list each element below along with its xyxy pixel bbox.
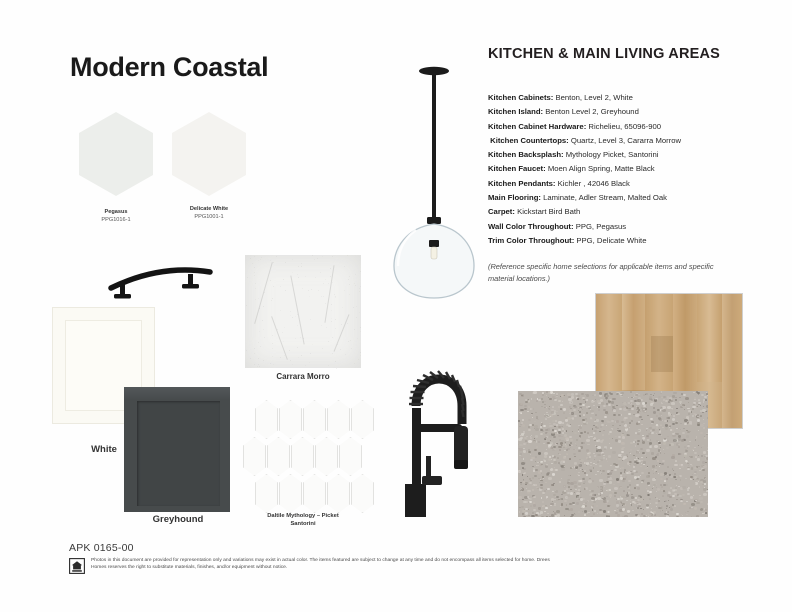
carpet-fleck: [691, 411, 693, 412]
carpet-fleck: [558, 435, 561, 437]
carpet-fleck: [546, 440, 547, 441]
spec-label: Kitchen Cabinets:: [488, 93, 553, 102]
carpet-fleck: [541, 473, 543, 474]
carpet-fleck: [649, 427, 652, 429]
carpet-fleck: [578, 483, 581, 486]
carpet-fleck: [643, 405, 646, 407]
quartz-speck: [323, 283, 324, 284]
quartz-speck: [325, 279, 326, 280]
quartz-speck: [272, 298, 273, 299]
carpet-fleck: [601, 499, 603, 500]
carpet-fleck: [642, 452, 644, 454]
carpet-fleck: [592, 480, 594, 482]
carpet-fleck: [703, 406, 704, 407]
carpet-fleck: [629, 452, 630, 453]
carpet-fleck: [603, 510, 607, 513]
carpet-fleck: [678, 444, 680, 445]
carpet-fleck: [643, 515, 646, 517]
carpet-fleck: [668, 500, 669, 501]
carpet-fleck: [586, 399, 588, 401]
carpet-fleck: [699, 470, 700, 471]
spec-value: Richelieu, 65096-900: [588, 122, 661, 131]
carpet-fleck: [532, 512, 534, 513]
carpet-fleck: [520, 453, 522, 455]
carpet-fleck: [622, 508, 625, 511]
carpet-fleck: [637, 440, 640, 443]
carpet-fleck: [576, 492, 579, 495]
quartz-speck: [328, 341, 329, 342]
quartz-speck: [349, 276, 350, 277]
carpet-fleck: [681, 393, 683, 395]
carpet-fleck: [566, 453, 568, 455]
quartz-speck: [273, 262, 274, 263]
carpet-fleck: [598, 439, 601, 441]
carpet-fleck: [706, 457, 708, 460]
carpet-fleck: [673, 415, 675, 417]
carpet-fleck: [682, 432, 684, 434]
quartz-speck: [259, 366, 260, 367]
carpet-fleck: [705, 512, 707, 514]
carpet-fleck: [700, 424, 703, 427]
carpet-fleck: [551, 492, 552, 493]
quartz-speck: [298, 357, 299, 358]
quartz-speck: [261, 257, 262, 258]
carpet-fleck: [707, 395, 708, 396]
carpet-fleck: [656, 424, 658, 425]
carpet-fleck: [533, 509, 536, 511]
carpet-fleck: [636, 402, 640, 405]
quartz-speck: [314, 259, 315, 260]
carpet-fleck: [584, 431, 586, 433]
carpet-fleck: [660, 425, 662, 426]
carpet-fleck: [569, 412, 571, 414]
carpet-fleck: [574, 492, 575, 493]
carpet-fleck: [703, 493, 706, 496]
carpet-fleck: [704, 437, 706, 439]
carpet-fleck: [619, 408, 622, 410]
carpet-fleck: [578, 450, 581, 453]
quartz-speck: [331, 318, 332, 319]
carpet-fleck: [554, 430, 557, 432]
carpet-fleck: [686, 514, 688, 516]
spec-label: Wall Color Throughout:: [488, 222, 574, 231]
quartz-speck: [345, 354, 346, 355]
carpet-fleck: [618, 414, 621, 416]
carpet-fleck: [666, 447, 668, 449]
carpet-fleck: [631, 507, 633, 509]
quartz-speck: [250, 358, 251, 359]
carpet-fleck: [610, 447, 612, 449]
carpet-fleck: [573, 453, 575, 455]
quartz-speck: [360, 331, 361, 332]
carpet-fleck: [684, 405, 685, 406]
carpet-fleck: [576, 445, 577, 446]
carpet-fleck: [690, 431, 691, 432]
carpet-fleck: [664, 472, 667, 475]
carpet-fleck: [678, 476, 681, 478]
carpet-fleck: [650, 394, 652, 396]
carpet-fleck: [668, 401, 670, 403]
carpet-fleck: [519, 426, 521, 427]
carpet-fleck: [607, 514, 610, 517]
carpet-fleck: [582, 478, 585, 481]
carpet-fleck: [563, 412, 565, 414]
carpet-fleck: [651, 432, 654, 434]
carpet-fleck: [640, 448, 643, 450]
carpet-fleck: [703, 465, 706, 468]
carpet-fleck: [553, 423, 555, 425]
carpet-fleck: [683, 394, 686, 396]
carpet-fleck: [590, 417, 592, 419]
carpet-fleck: [550, 505, 552, 506]
carpet-fleck: [645, 408, 647, 410]
carpet-fleck: [638, 414, 640, 416]
carpet-fleck: [523, 501, 527, 504]
carpet-fleck: [586, 394, 589, 396]
carpet-fleck: [703, 427, 705, 429]
carpet-fleck: [543, 461, 544, 462]
carpet-fleck: [652, 488, 653, 489]
quartz-speck: [335, 319, 336, 320]
carpet-fleck: [619, 425, 621, 427]
carpet-fleck: [570, 408, 571, 409]
carpet-fleck: [597, 461, 600, 463]
carpet-fleck: [548, 477, 552, 480]
carpet-fleck: [566, 488, 568, 489]
carpet-fleck: [630, 400, 633, 402]
carpet-fleck: [658, 473, 659, 474]
quartz-speck: [305, 276, 306, 277]
carpet-fleck: [661, 486, 664, 488]
carpet-fleck: [524, 408, 527, 410]
carpet-fleck: [592, 428, 593, 429]
carpet-fleck: [624, 417, 628, 420]
quartz-speck: [298, 266, 299, 267]
carpet-fleck: [528, 451, 531, 453]
carpet-fleck: [518, 438, 521, 441]
quartz-speck: [360, 271, 361, 272]
carpet-fleck: [589, 494, 590, 495]
carpet-fleck: [527, 476, 528, 477]
carpet-fleck: [657, 488, 660, 490]
carpet-fleck: [664, 420, 667, 422]
quartz-speck: [254, 256, 255, 257]
carpet-fleck: [660, 452, 661, 453]
carpet-fleck: [591, 490, 594, 492]
carpet-fleck: [606, 496, 608, 497]
carpet-fleck: [533, 441, 535, 443]
carpet-fleck: [542, 394, 544, 396]
carpet-fleck: [617, 481, 620, 483]
carpet-fleck: [538, 452, 542, 455]
carpet-fleck: [522, 424, 525, 427]
quartz-speck: [347, 255, 348, 256]
carpet-fleck: [609, 431, 612, 433]
carpet-fleck: [652, 465, 656, 468]
carpet-fleck: [680, 406, 682, 408]
carpet-fleck: [672, 423, 675, 426]
carpet-fleck: [572, 418, 574, 420]
carpet-fleck: [660, 510, 662, 511]
carpet-fleck: [612, 429, 613, 430]
backsplash-tile-caption: Daltile Mythology – Picket Santorini: [248, 513, 358, 528]
quartz-speck: [254, 275, 255, 276]
carpet-fleck: [676, 485, 677, 486]
carpet-fleck: [603, 419, 605, 420]
carpet-fleck: [687, 511, 689, 512]
carpet-fleck: [546, 395, 548, 396]
carpet-fleck: [675, 397, 676, 398]
carpet-fleck: [702, 445, 704, 446]
carpet-fleck: [587, 444, 589, 446]
carpet-fleck: [617, 514, 621, 517]
carpet-fleck: [666, 417, 669, 419]
carpet-fleck: [531, 398, 533, 399]
paint-code: PPG1001-1: [154, 214, 264, 222]
carpet-fleck: [672, 395, 675, 398]
carpet-fleck: [579, 438, 582, 440]
quartz-speck: [259, 308, 260, 309]
quartz-speck: [270, 260, 271, 261]
carpet-fleck: [591, 400, 594, 403]
carpet-fleck: [646, 504, 649, 507]
spec-row: Kitchen Backsplash: Mythology Picket, Sa…: [488, 148, 753, 162]
quartz-speck: [272, 335, 273, 336]
carpet-fleck: [683, 503, 686, 505]
carpet-fleck: [583, 481, 586, 483]
carpet-fleck: [555, 420, 558, 422]
carpet-fleck: [595, 414, 597, 416]
quartz-speck: [309, 296, 310, 297]
carpet-fleck: [518, 496, 522, 499]
carpet-fleck: [656, 465, 657, 466]
carpet-fleck: [593, 432, 595, 433]
carpet-fleck: [692, 474, 693, 475]
carpet-fleck: [543, 494, 544, 495]
carpet-fleck: [560, 410, 561, 411]
carpet-fleck: [637, 399, 640, 402]
carpet-fleck: [531, 435, 532, 436]
carpet-fleck: [557, 415, 559, 416]
carpet-fleck: [594, 459, 595, 460]
quartz-speck: [270, 280, 271, 281]
carpet-fleck: [563, 456, 567, 459]
quartz-speck: [298, 277, 299, 278]
carpet-fleck: [570, 489, 571, 490]
carpet-fleck: [707, 489, 708, 490]
carpet-fleck: [647, 415, 649, 417]
quartz-speck: [283, 279, 284, 280]
carpet-fleck: [558, 446, 561, 449]
carpet-fleck: [635, 445, 636, 446]
carpet-fleck: [536, 400, 538, 402]
carpet-fleck: [588, 436, 590, 438]
quartz-speck: [254, 348, 255, 349]
carpet-fleck: [565, 496, 568, 499]
carpet-fleck: [651, 452, 654, 454]
carpet-fleck: [705, 478, 706, 479]
spec-label: Kitchen Pendants:: [488, 179, 556, 188]
carpet-fleck: [628, 409, 631, 411]
quartz-speck: [271, 300, 272, 301]
carpet-fleck: [525, 440, 527, 442]
quartz-speck: [283, 341, 284, 342]
carpet-fleck: [622, 505, 623, 506]
quartz-speck: [331, 304, 332, 305]
carpet-fleck: [590, 410, 593, 413]
carpet-fleck: [628, 480, 631, 482]
quartz-speck: [332, 337, 333, 338]
carpet-fleck: [612, 451, 616, 454]
quartz-speck: [349, 294, 350, 295]
spec-row: Kitchen Cabinets: Benton, Level 2, White: [488, 91, 753, 105]
carpet-fleck: [522, 474, 524, 475]
carpet-fleck: [523, 481, 525, 483]
carpet-fleck: [628, 413, 631, 415]
carpet-fleck: [552, 455, 554, 457]
quartz-speck: [353, 307, 354, 308]
carpet-fleck: [595, 399, 596, 400]
carpet-fleck: [567, 481, 569, 482]
carpet-fleck: [540, 484, 543, 486]
carpet-fleck: [590, 462, 592, 464]
carpet-fleck: [707, 426, 708, 427]
carpet-fleck: [554, 467, 556, 468]
quartz-speck: [360, 286, 361, 287]
quartz-speck: [347, 323, 348, 324]
carpet-fleck: [646, 435, 649, 437]
carpet-fleck: [603, 405, 606, 407]
carpet-fleck: [560, 404, 562, 406]
carpet-fleck: [673, 490, 675, 491]
carpet-fleck: [600, 470, 601, 471]
carpet-fleck: [577, 496, 580, 498]
carpet-fleck: [661, 403, 663, 404]
quartz-speck: [360, 327, 361, 328]
carpet-fleck: [616, 405, 618, 406]
carpet-fleck: [541, 497, 542, 498]
carpet-fleck: [633, 466, 635, 467]
carpet-fleck: [568, 483, 570, 485]
quartz-speck: [264, 337, 265, 338]
carpet-fleck: [562, 401, 563, 402]
carpet-fleck: [561, 468, 565, 471]
carpet-fleck: [528, 419, 530, 421]
carpet-fleck: [574, 415, 577, 417]
carpet-fleck: [595, 474, 597, 476]
carpet-fleck: [585, 401, 587, 403]
carpet-fleck: [524, 472, 526, 474]
carpet-fleck: [687, 431, 690, 433]
carpet-fleck: [674, 464, 677, 466]
carpet-fleck: [703, 401, 704, 402]
carpet-fleck: [601, 492, 603, 494]
quartz-speck: [310, 353, 311, 354]
spec-value: Mythology Picket, Santorini: [566, 150, 659, 159]
carpet-fleck: [559, 449, 561, 450]
carpet-fleck: [673, 392, 677, 395]
carpet-fleck: [621, 392, 623, 394]
carpet-fleck: [591, 497, 595, 500]
carpet-fleck: [529, 498, 532, 500]
carpet-fleck: [705, 509, 707, 510]
carpet-fleck: [544, 404, 546, 405]
carpet-fleck: [687, 468, 690, 470]
carpet-fleck: [542, 501, 544, 503]
carpet-fleck: [614, 487, 617, 490]
carpet-fleck: [582, 511, 583, 512]
carpet-fleck: [641, 419, 643, 420]
carpet-fleck: [667, 436, 669, 437]
carpet-fleck: [665, 427, 668, 430]
carpet-fleck: [626, 494, 629, 496]
spec-value: Benton, Level 2, White: [556, 93, 633, 102]
carpet-fleck: [662, 510, 663, 511]
carpet-fleck: [654, 399, 657, 402]
carpet-fleck: [603, 430, 605, 432]
carpet-fleck: [585, 418, 587, 419]
spec-row: Carpet: Kickstart Bird Bath: [488, 205, 753, 219]
carpet-fleck: [583, 399, 584, 400]
quartz-speck: [292, 259, 293, 260]
spec-value: Benton Level 2, Greyhound: [545, 107, 639, 116]
quartz-speck: [295, 338, 296, 339]
carpet-fleck: [530, 480, 531, 481]
tile-caption-line1: Daltile Mythology – Picket: [267, 513, 339, 519]
carpet-fleck: [663, 449, 665, 450]
carpet-fleck: [681, 439, 684, 442]
quartz-speck: [336, 368, 337, 369]
carpet-fleck: [609, 443, 610, 444]
carpet-fleck: [698, 466, 700, 467]
carpet-fleck: [680, 500, 683, 502]
quartz-speck: [309, 362, 310, 363]
carpet-fleck: [595, 464, 597, 465]
carpet-fleck: [625, 478, 626, 479]
carpet-fleck: [656, 506, 657, 507]
carpet-fleck: [548, 458, 551, 461]
carpet-fleck: [589, 478, 591, 479]
quartz-speck: [358, 359, 359, 360]
carpet-fleck: [699, 495, 701, 497]
carpet-fleck: [671, 456, 674, 459]
carpet-fleck: [545, 418, 547, 420]
carpet-fleck: [533, 496, 536, 498]
carpet-fleck: [659, 444, 661, 446]
carpet-fleck: [582, 505, 585, 508]
backsplash-tile-sample: [255, 400, 351, 510]
carpet-fleck: [623, 408, 626, 411]
quartz-speck: [320, 272, 321, 273]
carpet-fleck: [524, 405, 527, 407]
carpet-fleck: [689, 441, 690, 442]
carpet-fleck: [696, 502, 699, 505]
carpet-fleck: [553, 484, 555, 485]
plan-code: APK 0165-00: [69, 542, 134, 554]
carpet-fleck: [672, 418, 675, 421]
spec-row: Kitchen Countertops: Quartz, Level 3, Ca…: [488, 134, 753, 148]
carpet-fleck: [685, 397, 689, 400]
carpet-fleck: [639, 411, 641, 412]
carpet-fleck: [652, 429, 654, 431]
carpet-fleck: [631, 494, 632, 495]
picket-tile: [291, 437, 314, 476]
carpet-fleck: [611, 401, 614, 403]
carpet-fleck: [574, 485, 577, 488]
picket-tile: [327, 474, 350, 513]
carpet-fleck: [548, 408, 550, 410]
quartz-speck: [255, 299, 256, 300]
